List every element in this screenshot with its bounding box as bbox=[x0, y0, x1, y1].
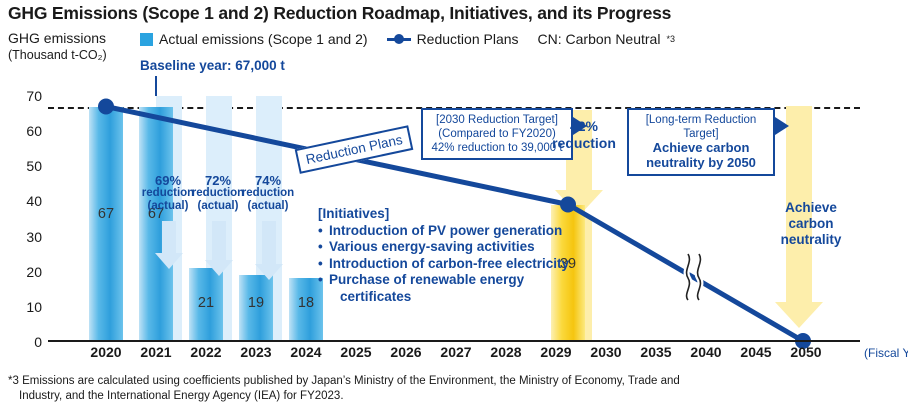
footnote-line-1: *3 Emissions are calculated using coeffi… bbox=[8, 374, 898, 389]
x-tick-2021: 2021 bbox=[140, 344, 171, 360]
arrow-2050-label: Achieve carbon neutrality bbox=[768, 200, 854, 248]
footnote: *3 Emissions are calculated using coeffi… bbox=[8, 374, 898, 404]
callout-2030-line2: (Compared to FY2020) bbox=[428, 127, 566, 141]
y-tick-60: 60 bbox=[26, 123, 42, 139]
legend-marker-plan-icon bbox=[387, 33, 411, 46]
legend-swatch-actual-icon bbox=[140, 33, 153, 46]
y-tick-20: 20 bbox=[26, 264, 42, 280]
x-tick-2023: 2023 bbox=[240, 344, 271, 360]
arrow-2030-label: 42% reduction bbox=[548, 118, 620, 152]
initiatives-block: [Initiatives] Introduction of PV power g… bbox=[318, 206, 569, 305]
baseline-year-label: Baseline year: 67,000 t bbox=[140, 58, 285, 73]
legend-label-plan: Reduction Plans bbox=[417, 31, 519, 47]
arrow-2030-label-line2: reduction bbox=[548, 135, 620, 152]
x-axis-unit: (Fiscal Year) bbox=[864, 346, 908, 360]
initiative-item-continuation: certificates bbox=[318, 289, 569, 306]
y-tick-10: 10 bbox=[26, 299, 42, 315]
data-point-2020 bbox=[98, 99, 114, 115]
x-tick-2026: 2026 bbox=[390, 344, 421, 360]
x-tick-2028: 2028 bbox=[490, 344, 521, 360]
legend-label-actual: Actual emissions (Scope 1 and 2) bbox=[159, 31, 368, 47]
x-tick-2050: 2050 bbox=[790, 344, 821, 360]
callout-longterm-line1: [Long-term Reduction Target] bbox=[634, 113, 768, 141]
x-tick-2025: 2025 bbox=[340, 344, 371, 360]
x-tick-2020: 2020 bbox=[90, 344, 121, 360]
arrow-2050-label-line1: Achieve bbox=[768, 200, 854, 216]
initiative-item: Introduction of carbon-free electricity bbox=[318, 256, 569, 273]
initiative-item: Introduction of PV power generation bbox=[318, 223, 569, 240]
callout-2030-line3: 42% reduction to 39,000 t bbox=[428, 141, 566, 155]
y-tick-50: 50 bbox=[26, 158, 42, 174]
x-tick-2040: 2040 bbox=[690, 344, 721, 360]
arrow-2050-label-line2: carbon bbox=[768, 216, 854, 232]
x-tick-2045: 2045 bbox=[740, 344, 771, 360]
legend-label-cn: CN: Carbon Neutral bbox=[538, 31, 661, 47]
arrow-2030-label-line1: 42% bbox=[548, 118, 620, 135]
y-axis-title: GHG emissions bbox=[8, 30, 106, 46]
x-axis-line bbox=[48, 340, 860, 342]
y-tick-30: 30 bbox=[26, 229, 42, 245]
y-tick-40: 40 bbox=[26, 193, 42, 209]
y-tick-70: 70 bbox=[26, 88, 42, 104]
callout-2030-line1: [2030 Reduction Target] bbox=[428, 113, 566, 127]
legend-cn-footnote-marker: *3 bbox=[666, 34, 675, 44]
callout-longterm-line3: neutrality by 2050 bbox=[646, 155, 756, 170]
footnote-line-2: Industry, and the International Energy A… bbox=[8, 389, 898, 404]
arrow-2050-label-line3: neutrality bbox=[768, 232, 854, 248]
x-tick-2030: 2030 bbox=[590, 344, 621, 360]
page-title: GHG Emissions (Scope 1 and 2) Reduction … bbox=[8, 3, 671, 24]
x-tick-2024: 2024 bbox=[290, 344, 321, 360]
x-tick-2022: 2022 bbox=[190, 344, 221, 360]
x-tick-2029: 2029 bbox=[540, 344, 571, 360]
y-axis-unit: (Thousand t-CO₂) bbox=[8, 48, 107, 62]
initiatives-list: Introduction of PV power generation Vari… bbox=[318, 223, 569, 306]
y-tick-0: 0 bbox=[34, 334, 42, 350]
baseline-tick-mark bbox=[155, 76, 157, 96]
initiatives-heading: [Initiatives] bbox=[318, 206, 569, 223]
callout-longterm-target: [Long-term Reduction Target] Achieve car… bbox=[627, 108, 775, 176]
chart-legend: Actual emissions (Scope 1 and 2) Reducti… bbox=[140, 31, 675, 47]
initiative-item: Purchase of renewable energy bbox=[318, 272, 569, 289]
x-tick-2027: 2027 bbox=[440, 344, 471, 360]
initiative-item: Various energy-saving activities bbox=[318, 239, 569, 256]
callout-longterm-line2: Achieve carbon bbox=[653, 140, 750, 155]
x-tick-2035: 2035 bbox=[640, 344, 671, 360]
callout-longterm-pointer-icon bbox=[775, 117, 789, 135]
